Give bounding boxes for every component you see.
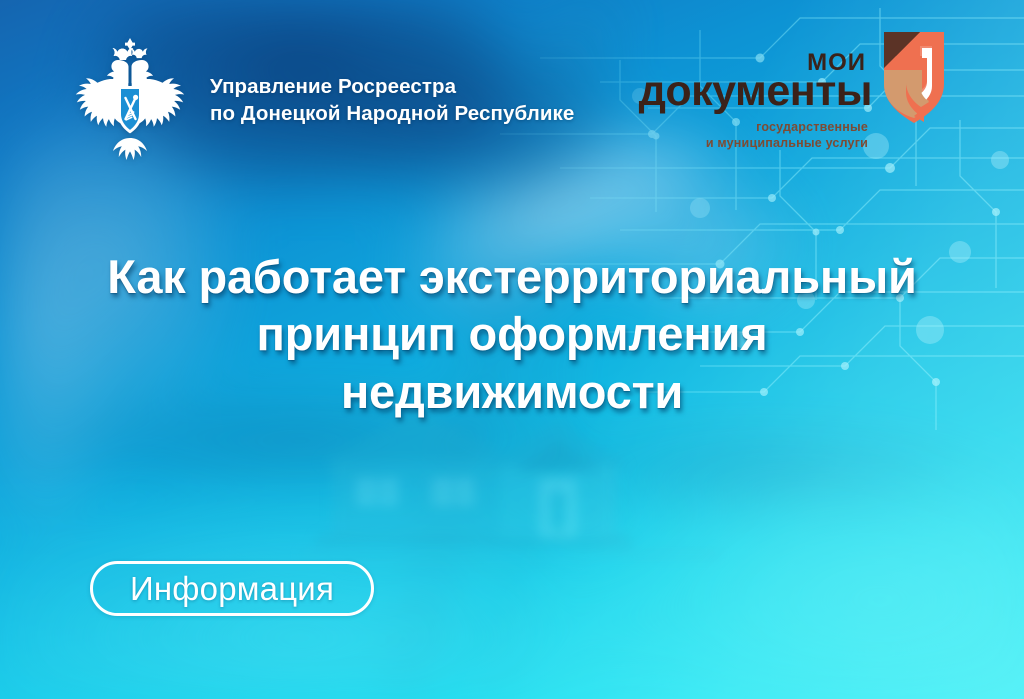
headline-line-1: Как работает экстерриториальный [62,248,962,305]
rosreestr-title-line1: Управление Росреестра [210,73,574,100]
information-banner: Управление Росреестра по Донецкой Народн… [0,0,1024,699]
information-button[interactable]: Информация [90,561,374,616]
mfc-wordmark: мои документы государственные и муниципа… [640,36,872,154]
rosreestr-logo-lockup: Управление Росреестра по Донецкой Народн… [66,34,574,166]
double-headed-eagle-emblem [66,34,194,166]
headline-line-3: недвижимости [62,363,962,420]
banner-header: Управление Росреестра по Донецкой Народн… [0,0,1024,180]
headline-line-2: принцип оформления [62,305,962,362]
mfc-word-dokumenty: документы [639,70,872,113]
page-title: Как работает экстерриториальный принцип … [62,248,962,420]
rosreestr-title-line2: по Донецкой Народной Республике [210,100,574,127]
mfc-logo-lockup: мои документы государственные и муниципа… [640,36,952,154]
rosreestr-title: Управление Росреестра по Донецкой Народн… [210,73,574,127]
mfc-subtitle-line1: государственные [756,120,868,134]
mfc-subtitle-line2: и муниципальные услуги [706,136,868,150]
mfc-shield-logo [876,30,952,134]
